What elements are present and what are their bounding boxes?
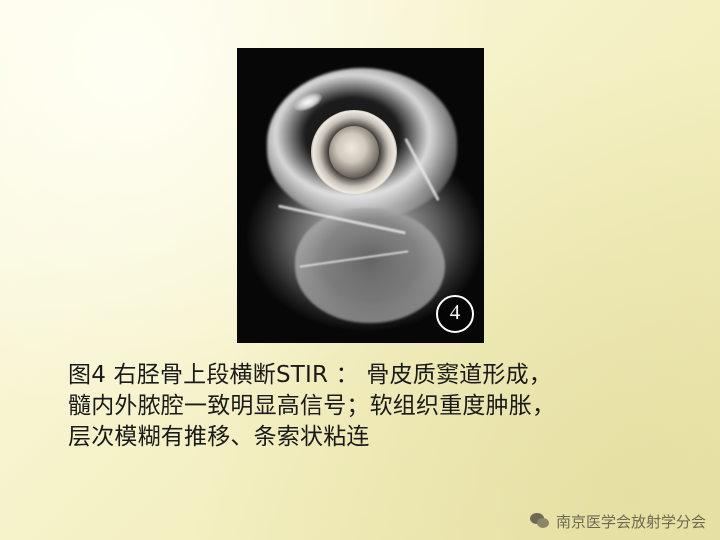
watermark: 南京医学会放射学分会 [530, 511, 706, 532]
mri-marrow-core [329, 126, 379, 178]
wechat-icon [530, 513, 550, 530]
figure-caption: 图4 右胫骨上段横断STIR ： 骨皮质窦道形成， 髓内外脓腔一致明显高信号；软… [68, 360, 668, 453]
watermark-text: 南京医学会放射学分会 [556, 511, 706, 532]
figure-container: 4 [237, 48, 484, 343]
caption-line-3: 层次模糊有推移、条索状粘连 [68, 422, 668, 453]
caption-line-2: 髓内外脓腔一致明显高信号；软组织重度肿胀， [68, 391, 668, 422]
slide-root: 4 图4 右胫骨上段横断STIR ： 骨皮质窦道形成， 髓内外脓腔一致明显高信号… [0, 0, 720, 540]
caption-line-1: 图4 右胫骨上段横断STIR ： 骨皮质窦道形成， [68, 360, 668, 391]
figure-number-badge: 4 [436, 295, 474, 333]
mri-image: 4 [237, 48, 484, 343]
